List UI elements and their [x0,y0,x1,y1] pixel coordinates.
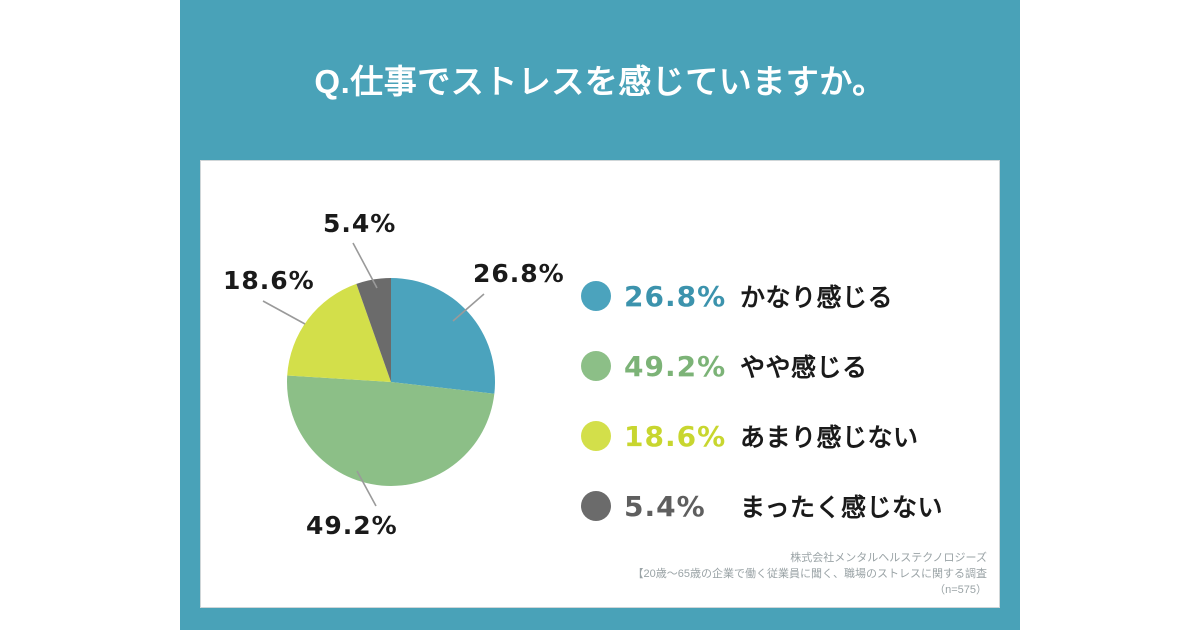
source-note: 株式会社メンタルヘルステクノロジーズ 【20歳〜65歳の企業で働く従業員に聞く、… [633,551,987,599]
legend-label: まったく感じない [740,488,943,524]
legend-percent: 26.8% [624,280,740,313]
legend-label: あまり感じない [740,418,919,454]
legend-item-mattaku[interactable]: 5.4% まったく感じない [581,471,971,541]
legend-percent: 18.6% [624,420,740,453]
pie-slice-yaya[interactable] [287,375,494,486]
source-line-survey: 【20歳〜65歳の企業で働く従業員に聞く、職場のストレスに関する調査 [633,567,987,583]
legend-swatch-icon [581,421,611,451]
pie-chart-svg [286,277,496,487]
pie-callout-mattaku: 5.4% [323,209,396,238]
legend-label: かなり感じる [740,278,893,314]
legend-swatch-icon [581,351,611,381]
page-title: Q.仕事でストレスを感じていますか。 [180,55,1020,103]
chart-card: 26.8% 18.6% 5.4% 49.2% 26.8% かなり感じる 49.2… [200,160,1000,608]
pie-callout-amari: 18.6% [223,266,315,295]
legend-label: やや感じる [740,348,868,384]
pie-callout-yaya: 49.2% [306,511,398,540]
legend-item-amari[interactable]: 18.6% あまり感じない [581,401,971,471]
legend-item-kanari[interactable]: 26.8% かなり感じる [581,261,971,331]
legend-percent: 49.2% [624,350,740,383]
pie-callout-kanari: 26.8% [473,259,565,288]
pie-chart [286,277,496,487]
chart-legend: 26.8% かなり感じる 49.2% やや感じる 18.6% あまり感じない 5… [581,261,971,541]
source-line-sample: （n=575） [633,583,987,599]
legend-item-yaya[interactable]: 49.2% やや感じる [581,331,971,401]
legend-swatch-icon [581,491,611,521]
legend-percent: 5.4% [624,490,740,523]
pie-slice-kanari[interactable] [391,278,495,394]
source-line-company: 株式会社メンタルヘルステクノロジーズ [633,551,987,567]
infographic-canvas: Q.仕事でストレスを感じていますか。 26.8% 18.6% 5.4% 49.2… [0,0,1200,630]
legend-swatch-icon [581,281,611,311]
